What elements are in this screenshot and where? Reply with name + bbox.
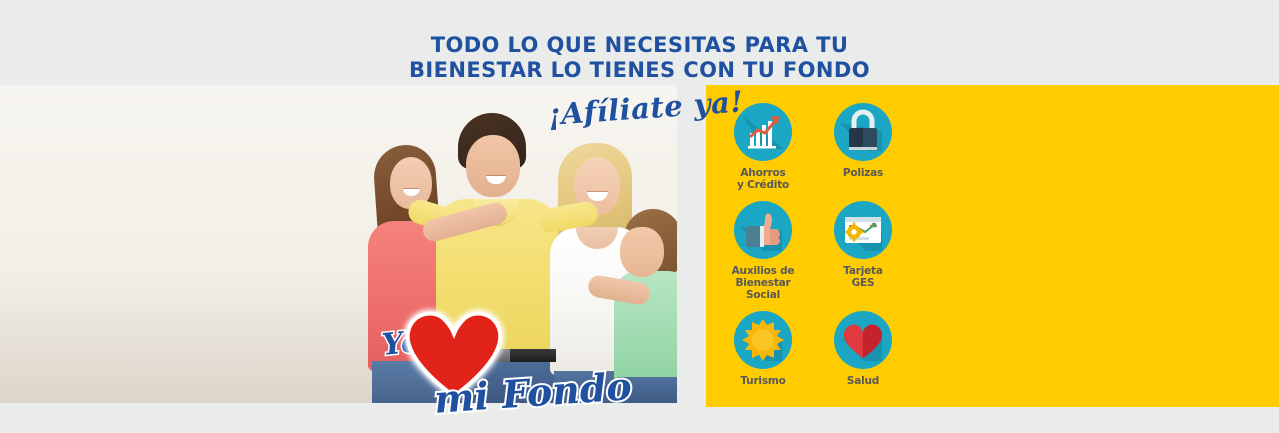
son-face bbox=[620, 227, 664, 277]
service-tile-tarjeta-ges[interactable]: Tarjeta GES bbox=[822, 191, 904, 301]
heart-icon bbox=[834, 311, 892, 369]
service-label: Salud bbox=[822, 375, 904, 387]
service-label: Turismo bbox=[722, 375, 804, 387]
service-label: Polizas bbox=[822, 167, 904, 179]
service-label: Tarjeta GES bbox=[822, 265, 904, 289]
yo-amo-mi-fondo-logo: Yo mi Fondo bbox=[378, 308, 598, 433]
page-title: TODO LO QUE NECESITAS PARA TU BIENESTAR … bbox=[0, 33, 1279, 83]
service-tile-polizas[interactable]: Polizas bbox=[822, 93, 904, 191]
dashboard-card-icon bbox=[834, 201, 892, 259]
sun-icon bbox=[734, 311, 792, 369]
headline-line-1: TODO LO QUE NECESITAS PARA TU bbox=[0, 33, 1279, 58]
services-grid: Ahorros y Crédito Polizas bbox=[722, 93, 912, 387]
thumbs-up-icon bbox=[734, 201, 792, 259]
headline-line-2: BIENESTAR LO TIENES CON TU FONDO bbox=[0, 58, 1279, 83]
service-label: Ahorros y Crédito bbox=[722, 167, 804, 191]
service-label: Auxilios de Bienestar Social bbox=[722, 265, 804, 301]
padlock-icon bbox=[834, 103, 892, 161]
services-panel: Ahorros y Crédito Polizas bbox=[706, 85, 1279, 407]
service-tile-salud[interactable]: Salud bbox=[822, 301, 904, 387]
promo-banner: TODO LO QUE NECESITAS PARA TU BIENESTAR … bbox=[0, 0, 1279, 433]
father-face bbox=[466, 135, 520, 197]
service-tile-turismo[interactable]: Turismo bbox=[722, 301, 804, 387]
service-tile-auxilios-bienestar-social[interactable]: Auxilios de Bienestar Social bbox=[722, 191, 804, 301]
